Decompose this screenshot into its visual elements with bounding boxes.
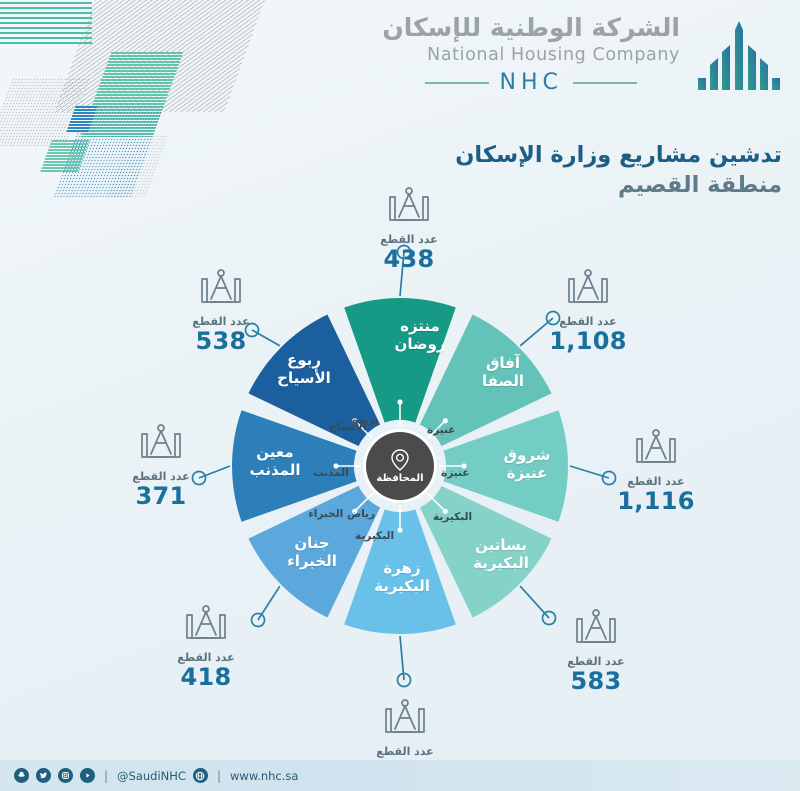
globe-icon[interactable] — [193, 768, 208, 783]
compass-drafting-icon — [349, 186, 469, 232]
callout-583[interactable]: عدد القطع 583 — [536, 608, 656, 695]
callout-1108[interactable]: عدد القطع 1,108 — [528, 268, 648, 355]
city-label-1: عنيزة — [427, 424, 455, 436]
footer-website[interactable]: www.nhc.sa — [230, 769, 298, 783]
callout-value: 1,116 — [596, 487, 716, 515]
city-label-5: رياض الخبراء — [329, 508, 375, 520]
callout-value: 371 — [101, 482, 221, 510]
compass-drafting-icon — [536, 608, 656, 654]
hub-spoke-dot — [397, 399, 402, 404]
segment-label-1: آفاق الصفا — [468, 355, 538, 390]
footer: | @SaudiNHC | www.nhc.sa — [0, 760, 800, 791]
youtube-icon[interactable] — [80, 768, 95, 783]
pie-wheel — [0, 0, 800, 791]
city-label-3: البكيرية — [433, 511, 472, 523]
compass-drafting-icon — [596, 428, 716, 474]
callout-value: 418 — [146, 663, 266, 691]
twitter-icon[interactable] — [36, 768, 51, 783]
hub-governorate[interactable]: المحافظة — [366, 432, 434, 500]
callout-value: 438 — [349, 245, 469, 273]
city-label-4: البكيرية — [355, 530, 394, 542]
city-label-6: المذنب — [313, 467, 349, 479]
callout-371[interactable]: عدد القطع 371 — [101, 423, 221, 510]
segment-label-3: بساتين البكيرية — [455, 537, 547, 572]
map-pin-icon — [389, 448, 411, 472]
compass-drafting-icon — [146, 604, 266, 650]
city-label-7: الأسياح — [329, 421, 367, 433]
callout-1116[interactable]: عدد القطع 1,116 — [596, 428, 716, 515]
callout-value: 1,108 — [528, 327, 648, 355]
snapchat-icon[interactable] — [14, 768, 29, 783]
callout-value: 538 — [161, 327, 281, 355]
segment-label-6: معين المذنب — [233, 444, 317, 479]
hub-spoke-dot — [397, 527, 402, 532]
city-label-2: عنيزة — [441, 467, 469, 479]
compass-drafting-icon — [345, 698, 465, 744]
segment-label-4: زهرة البكيرية — [362, 560, 442, 595]
infographic-page: الشركة الوطنية للإسكان National Housing … — [0, 0, 800, 791]
footer-separator-2: | — [217, 769, 221, 783]
segment-label-2: شروق عنيزة — [489, 447, 565, 482]
compass-drafting-icon — [528, 268, 648, 314]
callout-438[interactable]: عدد القطع 438 — [349, 186, 469, 273]
segment-label-0: منتزه روضان — [380, 318, 460, 353]
segment-label-7: ربوع الأسياح — [262, 352, 346, 387]
instagram-icon[interactable] — [58, 768, 73, 783]
footer-handle[interactable]: @SaudiNHC — [117, 769, 186, 783]
callout-418[interactable]: عدد القطع 418 — [146, 604, 266, 691]
segment-label-5: جنان الخبراء — [270, 535, 354, 570]
compass-drafting-icon — [161, 268, 281, 314]
compass-drafting-icon — [101, 423, 221, 469]
hub-label: المحافظة — [376, 473, 423, 484]
hub-spoke-dot — [443, 418, 448, 423]
footer-separator-1: | — [104, 769, 108, 783]
callout-538[interactable]: عدد القطع 538 — [161, 268, 281, 355]
callout-value: 583 — [536, 667, 656, 695]
